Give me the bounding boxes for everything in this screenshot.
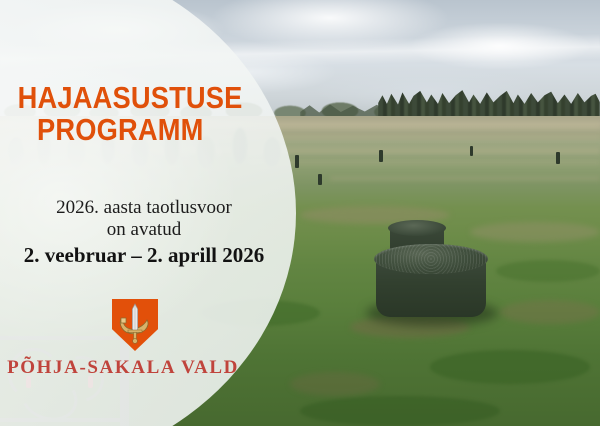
large-tank-top (374, 244, 488, 274)
field-post (379, 150, 383, 162)
subtitle-line-1: 2026. aasta taotlusvoor (0, 197, 288, 219)
crest-charges-icon (112, 299, 158, 351)
coat-of-arms-icon (112, 299, 158, 351)
grass-tuft (300, 396, 500, 426)
small-tank-top (388, 220, 446, 236)
field-post (318, 174, 322, 185)
mow-stripe (250, 160, 600, 165)
grass-tuft (430, 350, 590, 384)
grass-tuft (496, 260, 600, 282)
title-line-1: HAJAASUSTUSE (0, 82, 238, 114)
subtitle-line-2: on avatud (0, 219, 288, 241)
field-post (470, 146, 473, 156)
poster: HAJAASUSTUSE PROGRAMM 2026. aasta taotlu… (0, 0, 600, 426)
title-line-2: PROGRAMM (0, 114, 238, 146)
soil-patch (290, 372, 380, 396)
date-range: 2. veebruar – 2. aprill 2026 (0, 243, 288, 268)
soil-patch (470, 222, 600, 242)
soil-patch (500, 300, 600, 324)
field-post (556, 152, 560, 164)
mow-stripe (330, 176, 600, 181)
municipality-name: PÕHJA-SAKALA VALD (0, 357, 246, 379)
poster-title: HAJAASUSTUSE PROGRAMM (0, 82, 238, 146)
subtitle: 2026. aasta taotlusvoor on avatud (0, 197, 288, 242)
